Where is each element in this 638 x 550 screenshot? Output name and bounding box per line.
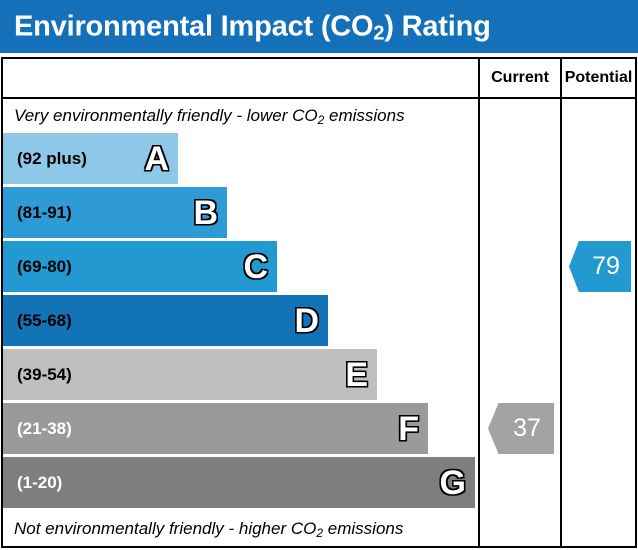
rating-band-d: (55-68)D — [3, 295, 328, 346]
caption-top-prefix: Very environmentally friendly - lower CO — [14, 106, 318, 125]
rating-band-range-b: (81-91) — [17, 203, 72, 223]
rating-band-range-g: (1-20) — [17, 473, 62, 493]
column-header-current: Current — [480, 59, 560, 97]
rating-band-range-e: (39-54) — [17, 365, 72, 385]
rating-band-range-f: (21-38) — [17, 419, 72, 439]
caption-top: Very environmentally friendly - lower CO… — [3, 99, 478, 133]
rating-band-letter-f: F — [398, 412, 419, 446]
rating-band-range-d: (55-68) — [17, 311, 72, 331]
rating-band-letter-d: D — [294, 304, 319, 338]
page-title-suffix: ) Rating — [384, 10, 490, 42]
caption-top-suffix: emissions — [324, 106, 404, 125]
rating-band-letter-g: G — [440, 466, 466, 500]
potential-column-divider — [560, 59, 562, 546]
potential-rating-value: 79 — [592, 252, 620, 281]
rating-band-range-a: (92 plus) — [17, 149, 87, 169]
rating-band-a: (92 plus)A — [3, 133, 178, 184]
rating-band-e: (39-54)E — [3, 349, 377, 400]
caption-bottom: Not environmentally friendly - higher CO… — [3, 512, 478, 546]
caption-top-subscript: 2 — [318, 113, 325, 127]
current-rating-value: 37 — [513, 414, 541, 443]
rating-band-letter-a: A — [144, 142, 169, 176]
chart-title-bar: Environmental Impact (CO2) Rating — [0, 0, 638, 53]
potential-rating-arrow: 79 — [569, 241, 631, 292]
rating-band-g: (1-20)G — [3, 457, 475, 508]
page-title-prefix: Environmental Impact (CO — [14, 10, 373, 42]
rating-band-b: (81-91)B — [3, 187, 227, 238]
page-title-subscript: 2 — [373, 22, 384, 44]
caption-bottom-suffix: emissions — [323, 519, 403, 538]
column-header-potential: Potential — [562, 59, 635, 97]
epc-environmental-impact-chart: Environmental Impact (CO2) Rating Curren… — [0, 0, 638, 550]
rating-band-list: (92 plus)A(81-91)B(69-80)C(55-68)D(39-54… — [3, 133, 478, 512]
current-column-divider — [478, 59, 480, 546]
rating-band-f: (21-38)F — [3, 403, 428, 454]
rating-band-c: (69-80)C — [3, 241, 277, 292]
rating-band-letter-e: E — [345, 358, 368, 392]
page-title: Environmental Impact (CO2) Rating — [14, 10, 491, 43]
current-rating-arrow: 37 — [488, 403, 554, 454]
rating-band-letter-c: C — [243, 250, 268, 284]
chart-frame: Current Potential Very environmentally f… — [1, 57, 637, 548]
caption-bottom-prefix: Not environmentally friendly - higher CO — [14, 519, 316, 538]
rating-band-range-c: (69-80) — [17, 257, 72, 277]
rating-band-letter-b: B — [193, 196, 218, 230]
caption-bottom-subscript: 2 — [316, 526, 323, 540]
